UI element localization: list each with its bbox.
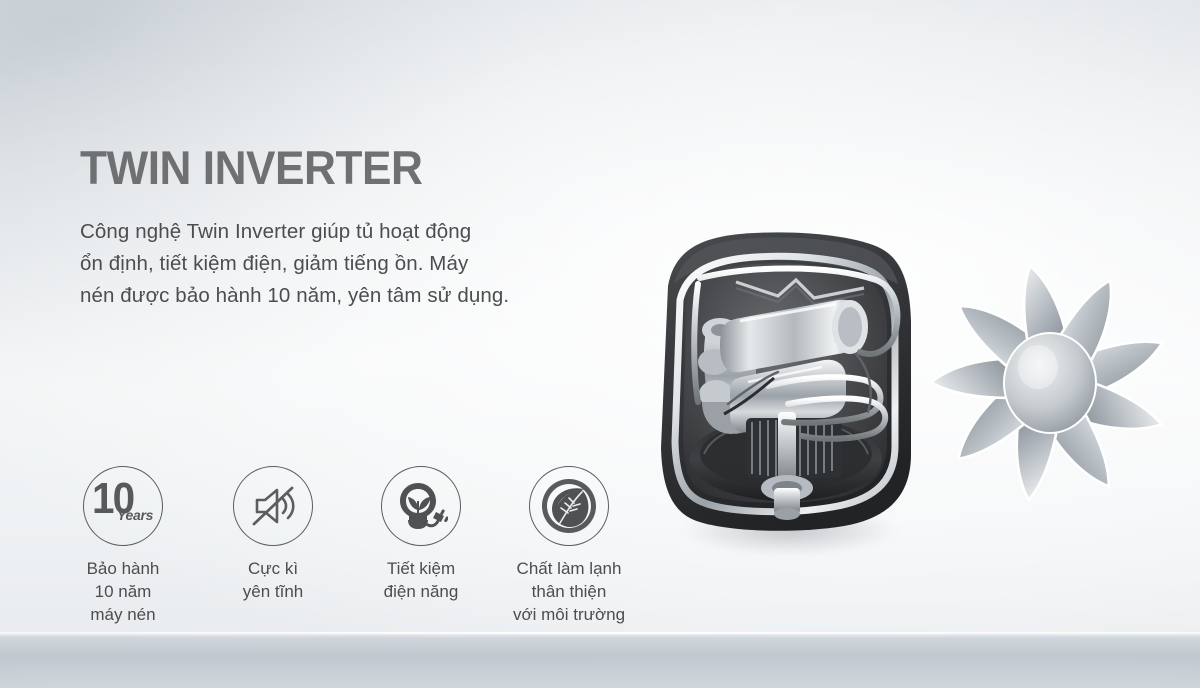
leaf-eco-icon [529,466,609,546]
caption-line: 10 năm [48,580,198,603]
description-text: Công nghệ Twin Inverter giúp tủ hoạt độn… [80,216,590,312]
eco-lightbulb-plug-icon [381,466,461,546]
feature-caption: Chất làm lạnh thân thiện với môi trường [494,557,644,626]
caption-line: điện năng [346,580,496,603]
badge-unit: Years [117,508,153,522]
feature-list: 10 Years Bảo hành 10 năm máy nén [70,466,670,656]
caption-line: Cực kì [198,557,348,580]
caption-line: thân thiện [494,580,644,603]
caption-line: Chất làm lạnh [494,557,644,580]
feature-warranty: 10 Years Bảo hành 10 năm máy nén [48,466,198,626]
feature-caption: Bảo hành 10 năm máy nén [48,557,198,626]
caption-line: yên tĩnh [198,580,348,603]
feature-energy-saving: Tiết kiệm điện năng [346,466,496,603]
description-line-3: nén được bảo hành 10 năm, yên tâm sử dụn… [80,280,590,312]
description-line-1: Công nghệ Twin Inverter giúp tủ hoạt độn… [80,216,590,248]
ten-years-badge-icon: 10 Years [83,466,163,546]
speaker-mute-icon [233,466,313,546]
caption-line: với môi trường [494,603,644,626]
caption-line: Bảo hành [48,557,198,580]
feature-quiet: Cực kì yên tĩnh [198,466,348,603]
feature-caption: Tiết kiệm điện năng [346,557,496,603]
banner-stage: TWIN INVERTER Công nghệ Twin Inverter gi… [0,0,1200,688]
page-title: TWIN INVERTER [80,144,422,191]
feature-caption: Cực kì yên tĩnh [198,557,348,603]
caption-line: máy nén [48,603,198,626]
compressor-image [628,226,928,546]
caption-line: Tiết kiệm [346,557,496,580]
fan-image [905,238,1195,528]
feature-eco-refrigerant: Chất làm lạnh thân thiện với môi trường [494,466,644,626]
description-line-2: ổn định, tiết kiệm điện, giảm tiếng ồn. … [80,248,590,280]
